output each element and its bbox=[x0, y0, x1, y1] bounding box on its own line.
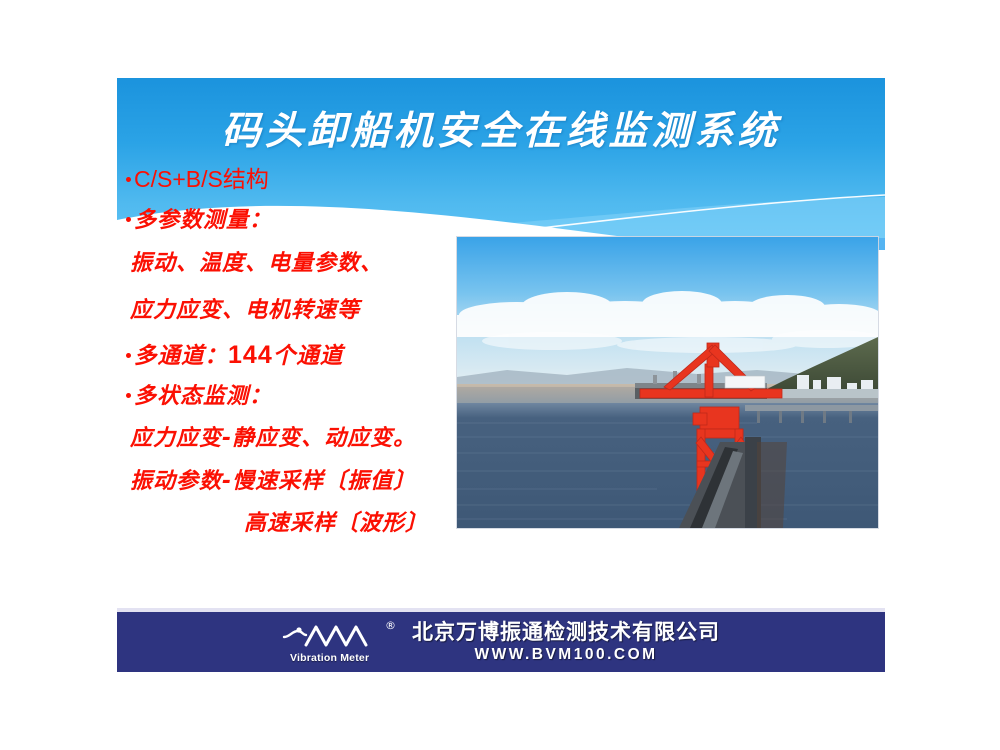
vibration-wave-icon bbox=[282, 621, 390, 651]
company-website[interactable]: WWW.BVM100.COM bbox=[412, 647, 720, 663]
bullet-dot-icon bbox=[126, 217, 131, 222]
bullet-line-8-text: 振动参数-慢速采样〔振值〕 bbox=[130, 469, 416, 494]
bullet-line-6: 多状态监测： bbox=[126, 386, 272, 408]
bullet-line-4-text: 应力应变、电机转速等 bbox=[130, 298, 360, 323]
bullet-line-2: 多参数测量： bbox=[126, 210, 272, 232]
channel-count: 144 bbox=[228, 341, 273, 369]
bullet-line-4: 应力应变、电机转速等 bbox=[130, 300, 360, 322]
bullet-line-7-text: 应力应变-静应变、动应变。 bbox=[130, 426, 416, 451]
bullet-line-3: 振动、温度、电量参数、 bbox=[130, 253, 383, 275]
footer-content: ® Vibration Meter 北京万博振通检测技术有限公司 WWW.BVM… bbox=[117, 612, 885, 672]
bullet-dot-icon bbox=[126, 393, 131, 398]
bullet-dot-icon bbox=[126, 177, 131, 182]
bullet-line-2-text: 多参数测量： bbox=[134, 208, 272, 233]
bullet-line-6-text: 多状态监测： bbox=[134, 384, 272, 409]
bullet-line-9-text: 高速采样〔波形〕 bbox=[244, 511, 428, 536]
photo-illustration bbox=[457, 237, 878, 528]
bullet-line-1: C/S+B/S结构 bbox=[126, 168, 269, 191]
logo-wordmark: Vibration Meter bbox=[290, 652, 369, 664]
brand-logo: ® Vibration Meter bbox=[282, 619, 400, 665]
footer-bar: ® Vibration Meter 北京万博振通检测技术有限公司 WWW.BVM… bbox=[117, 608, 885, 672]
channel-label-prefix: 多通道： bbox=[134, 343, 228, 369]
company-name-cn: 北京万博振通检测技术有限公司 bbox=[412, 622, 720, 643]
harbor-crane-photo bbox=[457, 237, 878, 528]
bullet-line-1-text: C/S+B/S结构 bbox=[134, 166, 269, 192]
bullet-line-3-text: 振动、温度、电量参数、 bbox=[130, 251, 383, 276]
bullet-line-7: 应力应变-静应变、动应变。 bbox=[130, 428, 416, 450]
company-identity: 北京万博振通检测技术有限公司 WWW.BVM100.COM bbox=[412, 622, 720, 663]
slide-canvas: 码头卸船机安全在线监测系统 C/S+B/S结构 多参数测量： 振动、温度、电量参… bbox=[0, 0, 1000, 750]
channel-label-suffix: 个通道 bbox=[273, 343, 344, 369]
registered-trademark-icon: ® bbox=[385, 619, 396, 632]
bullet-line-9: 高速采样〔波形〕 bbox=[244, 513, 428, 535]
bullet-dot-icon bbox=[126, 353, 131, 358]
bullet-line-5: 多通道：144个通道 bbox=[126, 343, 343, 368]
page-title: 码头卸船机安全在线监测系统 bbox=[117, 100, 885, 156]
bullet-line-8: 振动参数-慢速采样〔振值〕 bbox=[130, 471, 416, 493]
